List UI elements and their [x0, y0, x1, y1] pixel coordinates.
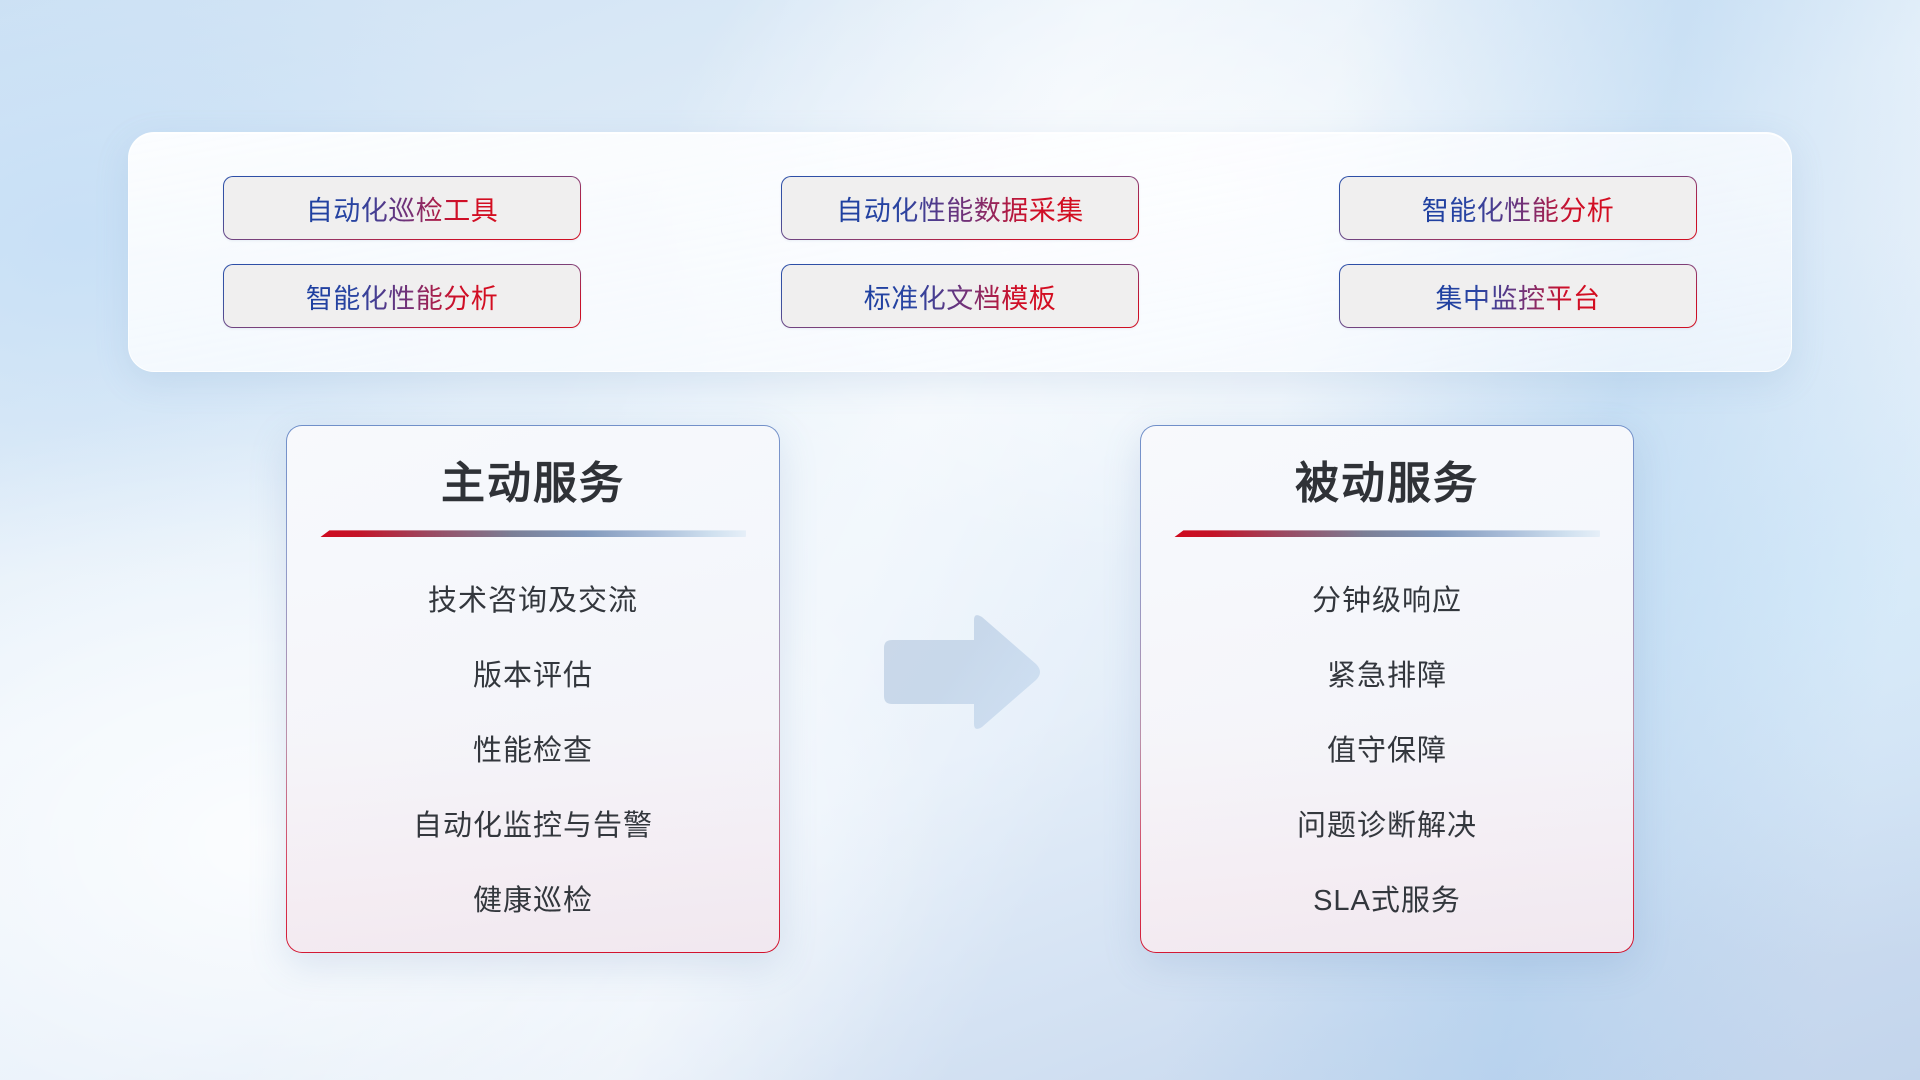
arrow-right-icon: [876, 612, 1044, 732]
capability-pill-label: 集中监控平台: [1436, 277, 1601, 316]
title-divider: [1174, 530, 1600, 537]
service-list-item: 性能检查: [473, 727, 593, 769]
capability-pill-label: 智能化性能分析: [306, 277, 499, 316]
capability-pill-label: 智能化性能分析: [1422, 189, 1615, 228]
capability-pill[interactable]: 自动化巡检工具: [223, 176, 581, 240]
service-list-item: 问题诊断解决: [1297, 802, 1477, 844]
service-card-title: 被动服务: [1295, 460, 1479, 508]
title-divider: [320, 530, 746, 537]
capability-pill-label: 自动化巡检工具: [306, 189, 499, 228]
service-list-item: 健康巡检: [473, 877, 593, 919]
capability-pill-label: 自动化性能数据采集: [836, 189, 1084, 228]
service-item-list: 分钟级响应 紧急排障 值守保障 问题诊断解决 SLA式服务: [1171, 577, 1603, 919]
service-list-item: 分钟级响应: [1312, 577, 1462, 619]
capability-pill[interactable]: 自动化性能数据采集: [781, 176, 1139, 240]
service-card-active: 主动服务 技术咨询及交流 版本评估 性能检查 自动化监控与告警 健康巡检: [286, 425, 780, 953]
capability-pill-grid: 自动化巡检工具 自动化性能数据采集 智能化性能分析 智能化性能分析 标准化文档模…: [223, 176, 1697, 328]
service-list-item: SLA式服务: [1313, 877, 1461, 919]
capability-panel: 自动化巡检工具 自动化性能数据采集 智能化性能分析 智能化性能分析 标准化文档模…: [128, 132, 1792, 372]
service-item-list: 技术咨询及交流 版本评估 性能检查 自动化监控与告警 健康巡检: [317, 577, 749, 919]
service-list-item: 值守保障: [1327, 727, 1447, 769]
capability-pill[interactable]: 标准化文档模板: [781, 264, 1139, 328]
service-card-passive: 被动服务 分钟级响应 紧急排障 值守保障 问题诊断解决 SLA式服务: [1140, 425, 1634, 953]
capability-pill[interactable]: 集中监控平台: [1339, 264, 1697, 328]
capability-pill-label: 标准化文档模板: [864, 277, 1057, 316]
service-list-item: 技术咨询及交流: [428, 577, 638, 619]
capability-pill[interactable]: 智能化性能分析: [223, 264, 581, 328]
diagram-canvas: 自动化巡检工具 自动化性能数据采集 智能化性能分析 智能化性能分析 标准化文档模…: [0, 0, 1920, 1080]
service-list-item: 自动化监控与告警: [413, 802, 653, 844]
service-list-item: 紧急排障: [1327, 652, 1447, 694]
service-card-title: 主动服务: [441, 460, 625, 508]
service-list-item: 版本评估: [473, 652, 593, 694]
capability-pill[interactable]: 智能化性能分析: [1339, 176, 1697, 240]
